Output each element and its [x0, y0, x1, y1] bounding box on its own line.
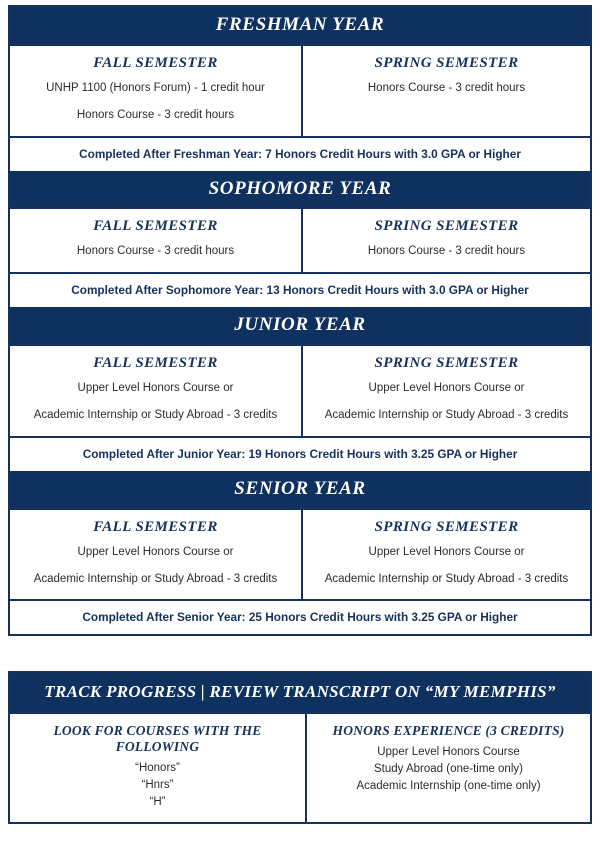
course-line: Honors Course - 3 credit hours — [16, 109, 295, 123]
spring-semester-title: SPRING SEMESTER — [309, 55, 584, 72]
honors-plan-page: FRESHMAN YEAR FALL SEMESTER UNHP 1100 (H… — [0, 0, 600, 845]
course-line: Academic Internship or Study Abroad - 3 … — [16, 409, 295, 423]
spring-semester-cell-junior: SPRING SEMESTER Upper Level Honors Cours… — [303, 346, 590, 436]
course-line: Academic Internship or Study Abroad - 3 … — [309, 573, 584, 587]
fall-semester-title: FALL SEMESTER — [16, 355, 295, 372]
semester-row-senior: FALL SEMESTER Upper Level Honors Course … — [10, 508, 590, 602]
completion-row-junior: Completed After Junior Year: 19 Honors C… — [10, 438, 590, 471]
course-line: Honors Course - 3 credit hours — [309, 82, 584, 96]
spring-semester-title: SPRING SEMESTER — [309, 519, 584, 536]
fall-semester-title: FALL SEMESTER — [16, 519, 295, 536]
spring-semester-cell-freshman: SPRING SEMESTER Honors Course - 3 credit… — [303, 46, 590, 136]
semester-row-sophomore: FALL SEMESTER Honors Course - 3 credit h… — [10, 207, 590, 274]
course-line: Upper Level Honors Course or — [309, 546, 584, 560]
keyword-line: “Honors” — [16, 760, 299, 777]
year-header-junior: JUNIOR YEAR — [10, 307, 590, 344]
experience-line: Study Abroad (one-time only) — [313, 761, 584, 778]
honors-experience-title: HONORS EXPERIENCE (3 CREDITS) — [313, 723, 584, 739]
spring-semester-title: SPRING SEMESTER — [309, 218, 584, 235]
year-header-sophomore: SOPHOMORE YEAR — [10, 171, 590, 208]
table-spacer — [8, 636, 592, 671]
course-line: Academic Internship or Study Abroad - 3 … — [309, 409, 584, 423]
year-header-freshman: FRESHMAN YEAR — [10, 7, 590, 44]
fall-semester-cell-senior: FALL SEMESTER Upper Level Honors Course … — [10, 510, 303, 600]
experience-line: Academic Internship (one-time only) — [313, 778, 584, 795]
course-line: Upper Level Honors Course or — [309, 382, 584, 396]
course-line: Honors Course - 3 credit hours — [16, 245, 295, 259]
spring-semester-title: SPRING SEMESTER — [309, 355, 584, 372]
track-progress-header: TRACK PROGRESS | REVIEW TRANSCRIPT ON “M… — [10, 673, 590, 712]
completion-row-senior: Completed After Senior Year: 25 Honors C… — [10, 601, 590, 634]
experience-line: Upper Level Honors Course — [313, 744, 584, 761]
course-line: Academic Internship or Study Abroad - 3 … — [16, 573, 295, 587]
course-line: Upper Level Honors Course or — [16, 382, 295, 396]
keyword-line: “Hnrs” — [16, 777, 299, 794]
track-progress-table: TRACK PROGRESS | REVIEW TRANSCRIPT ON “M… — [8, 671, 592, 824]
track-progress-body: LOOK FOR COURSES WITH THE FOLLOWING “Hon… — [10, 712, 590, 822]
fall-semester-cell-junior: FALL SEMESTER Upper Level Honors Course … — [10, 346, 303, 436]
course-line: UNHP 1100 (Honors Forum) - 1 credit hour — [16, 82, 295, 96]
honors-experience-cell: HONORS EXPERIENCE (3 CREDITS) Upper Leve… — [307, 714, 590, 822]
spring-semester-cell-senior: SPRING SEMESTER Upper Level Honors Cours… — [303, 510, 590, 600]
look-for-courses-title: LOOK FOR COURSES WITH THE FOLLOWING — [16, 723, 299, 755]
course-line: Upper Level Honors Course or — [16, 546, 295, 560]
completion-row-freshman: Completed After Freshman Year: 7 Honors … — [10, 138, 590, 171]
look-for-courses-cell: LOOK FOR COURSES WITH THE FOLLOWING “Hon… — [10, 714, 307, 822]
semester-row-freshman: FALL SEMESTER UNHP 1100 (Honors Forum) -… — [10, 44, 590, 138]
fall-semester-cell-sophomore: FALL SEMESTER Honors Course - 3 credit h… — [10, 209, 303, 272]
fall-semester-title: FALL SEMESTER — [16, 55, 295, 72]
spring-semester-cell-sophomore: SPRING SEMESTER Honors Course - 3 credit… — [303, 209, 590, 272]
fall-semester-cell-freshman: FALL SEMESTER UNHP 1100 (Honors Forum) -… — [10, 46, 303, 136]
year-header-senior: SENIOR YEAR — [10, 471, 590, 508]
four-year-plan-table: FRESHMAN YEAR FALL SEMESTER UNHP 1100 (H… — [8, 5, 592, 636]
course-line: Honors Course - 3 credit hours — [309, 245, 584, 259]
keyword-line: “H” — [16, 794, 299, 811]
completion-row-sophomore: Completed After Sophomore Year: 13 Honor… — [10, 274, 590, 307]
fall-semester-title: FALL SEMESTER — [16, 218, 295, 235]
semester-row-junior: FALL SEMESTER Upper Level Honors Course … — [10, 344, 590, 438]
